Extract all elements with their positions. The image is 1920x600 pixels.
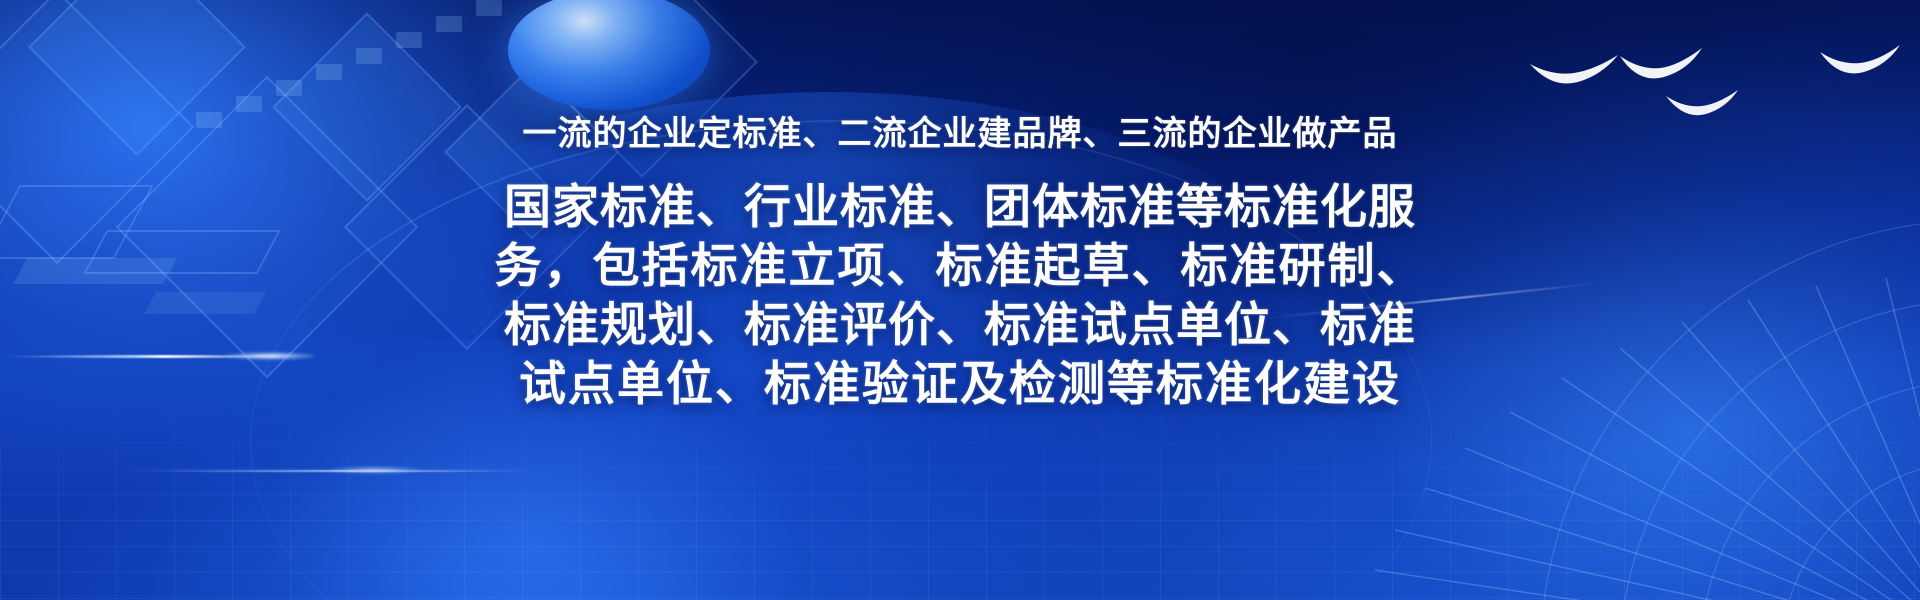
banner-root: 一流的企业定标准、二流企业建品牌、三流的企业做产品 国家标准、行业标准、团体标准…	[0, 0, 1920, 600]
perspective-grid-floor	[0, 390, 1920, 600]
body-line: 国家标准、行业标准、团体标准等标准化服	[440, 177, 1480, 236]
banner-body-copy: 国家标准、行业标准、团体标准等标准化服 务，包括标准立项、标准起草、标准研制、 …	[440, 155, 1480, 414]
banner-headline: 一流的企业定标准、二流企业建品牌、三流的企业做产品	[0, 0, 1920, 155]
body-line: 标准规划、标准评价、标准试点单位、标准	[440, 295, 1480, 354]
banner-text-block: 一流的企业定标准、二流企业建品牌、三流的企业做产品 国家标准、行业标准、团体标准…	[0, 0, 1920, 414]
body-line: 务，包括标准立项、标准起草、标准研制、	[440, 236, 1480, 295]
light-streak-flare	[330, 466, 420, 474]
body-line: 试点单位、标准验证及检测等标准化建设	[440, 354, 1480, 413]
